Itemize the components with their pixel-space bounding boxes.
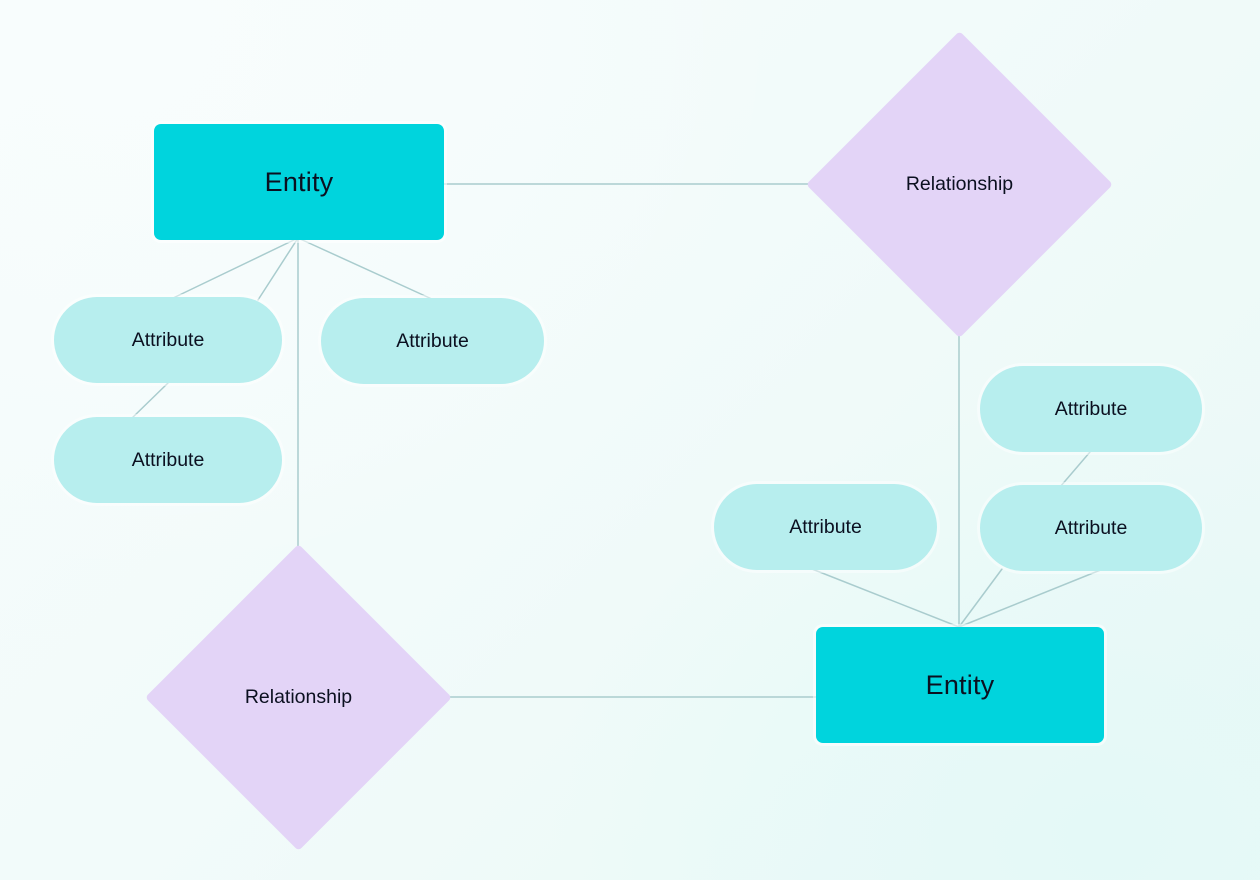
- relationship-node-bottom[interactable]: Relationship: [190, 589, 407, 806]
- attribute-label: Attribute: [396, 330, 469, 353]
- edge-entity-top-to-attribute-left-2: [258, 238, 298, 300]
- relationship-top-label: Relationship: [906, 173, 1013, 196]
- attribute-label: Attribute: [132, 329, 205, 352]
- edge-entity-top-to-attribute-right-upper: [298, 238, 434, 300]
- entity-node-bottom[interactable]: Entity: [816, 627, 1104, 743]
- attribute-node-left-2[interactable]: Attribute: [321, 298, 544, 384]
- entity-top-label: Entity: [265, 167, 334, 198]
- attribute-label: Attribute: [789, 516, 862, 539]
- relationship-bottom-label: Relationship: [245, 686, 352, 709]
- relationship-node-top[interactable]: Relationship: [851, 76, 1068, 293]
- edge-attribute-right-1-to-attribute-right-2: [1060, 452, 1090, 487]
- attribute-label: Attribute: [132, 449, 205, 472]
- edge-entity-top-to-attribute-left-1: [169, 238, 298, 300]
- attribute-node-left-3[interactable]: Attribute: [54, 417, 282, 503]
- edge-attribute-right-2-right-to-entity-bottom: [959, 569, 1103, 627]
- edge-attribute-left-1-to-attribute-left-3: [131, 383, 168, 419]
- edge-attribute-right-2-left-to-entity-bottom: [959, 569, 1002, 627]
- edge-attribute-middle-to-entity-bottom: [812, 569, 959, 627]
- attribute-label: Attribute: [1055, 517, 1128, 540]
- entity-node-top[interactable]: Entity: [154, 124, 444, 240]
- attribute-node-right-2[interactable]: Attribute: [980, 485, 1202, 571]
- attribute-node-middle[interactable]: Attribute: [714, 484, 937, 570]
- er-diagram-canvas: Entity Relationship Attribute Attribute …: [0, 0, 1260, 880]
- attribute-label: Attribute: [1055, 398, 1128, 421]
- entity-bottom-label: Entity: [926, 670, 995, 701]
- attribute-node-right-1[interactable]: Attribute: [980, 366, 1202, 452]
- attribute-node-left-1[interactable]: Attribute: [54, 297, 282, 383]
